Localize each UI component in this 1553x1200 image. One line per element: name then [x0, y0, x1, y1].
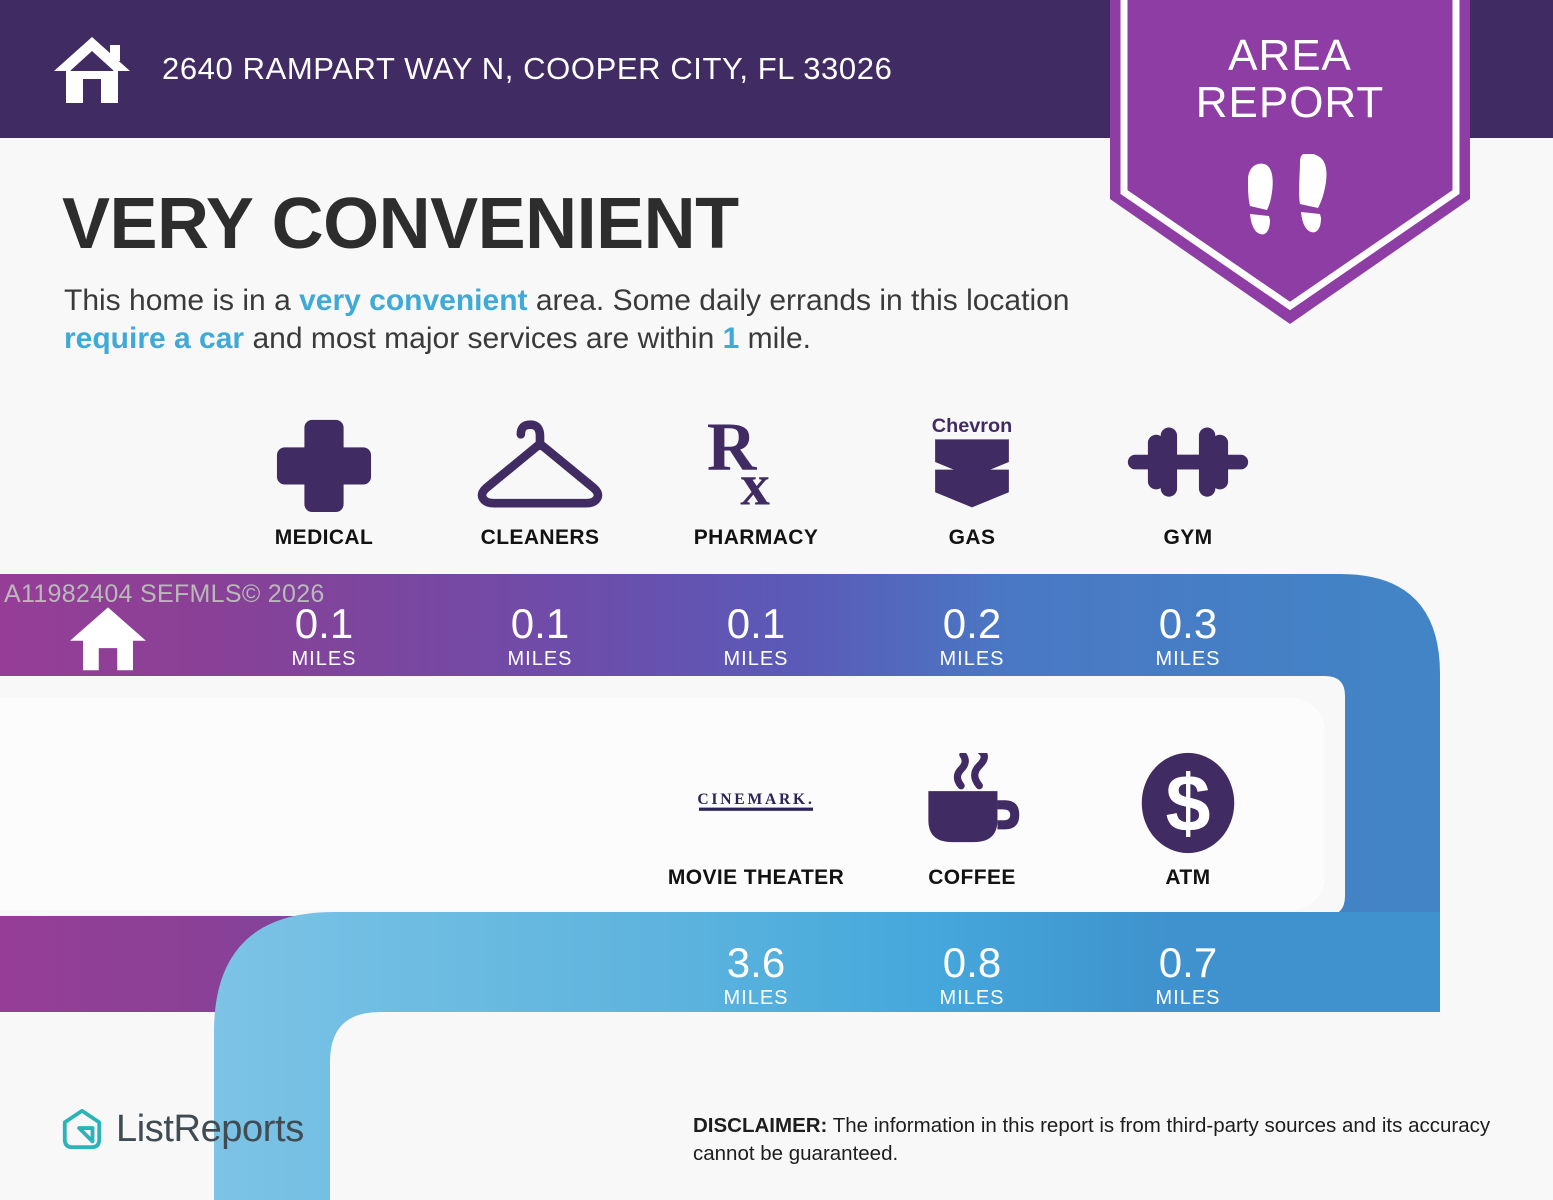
clothes-hanger-icon [473, 408, 607, 518]
distance-value: 0.8 [943, 942, 1001, 984]
summary-part-2: area. Some daily errands in this locatio… [528, 284, 1070, 317]
svg-text:$: $ [1165, 759, 1210, 849]
cinemark-logo-icon: CINEMARK. [681, 748, 831, 858]
disclaimer-label: DISCLAIMER: [693, 1114, 827, 1137]
page-title: VERY CONVENIENT [62, 186, 739, 262]
category-label: GYM [1163, 526, 1212, 550]
distance-coffee: 0.8 MILES [864, 917, 1080, 1035]
distance-value: 0.3 [1159, 603, 1217, 645]
badge-line-2: REPORT [1110, 79, 1470, 126]
category-label: MEDICAL [275, 526, 373, 550]
mls-watermark: A11982404 SEFMLS© 2026 [4, 580, 325, 609]
category-label: COFFEE [928, 866, 1016, 890]
category-label: CLEANERS [481, 526, 600, 550]
distance-cleaners: 0.1 MILES [432, 578, 648, 696]
distance-value: 0.7 [1159, 942, 1217, 984]
distance-unit: MILES [1155, 987, 1220, 1010]
distance-value: 0.1 [727, 603, 785, 645]
rx-prescription-icon: R x [705, 408, 807, 518]
summary-highlight-2: require a car [64, 322, 244, 355]
svg-text:x: x [740, 452, 770, 514]
distance-value: 0.1 [295, 603, 353, 645]
summary-highlight-3: 1 [723, 322, 740, 355]
house-icon [66, 600, 150, 674]
distance-value: 3.6 [727, 942, 785, 984]
category-cleaners: CLEANERS [432, 408, 648, 550]
row1-icons: MEDICAL CLEANERS R x PHARMACY [0, 408, 1553, 550]
distance-gym: 0.3 MILES [1080, 578, 1296, 696]
row2-icons: CINEMARK. MOVIE THEATER COFFEE [0, 748, 1553, 890]
row2-bar-spacer [0, 917, 648, 1035]
distance-unit: MILES [507, 648, 572, 671]
category-label: PHARMACY [694, 526, 819, 550]
distance-movie-theater: 3.6 MILES [648, 917, 864, 1035]
distance-unit: MILES [723, 987, 788, 1010]
category-coffee: COFFEE [864, 748, 1080, 890]
distance-unit: MILES [1155, 648, 1220, 671]
chevron-wordmark: Chevron [932, 415, 1013, 437]
chevron-gas-logo-icon: Chevron [920, 408, 1024, 518]
dollar-sign-icon: $ [1138, 748, 1238, 858]
distance-gas: 0.2 MILES [864, 578, 1080, 696]
house-icon [52, 33, 132, 105]
category-label: GAS [949, 526, 996, 550]
footprints-icon [1240, 154, 1350, 244]
category-gas: Chevron GAS [864, 408, 1080, 550]
area-report-badge: AREA REPORT [1110, 0, 1470, 324]
summary-part-1: This home is in a [64, 284, 299, 317]
category-medical: MEDICAL [216, 408, 432, 550]
badge-title: AREA REPORT [1110, 32, 1470, 126]
category-atm: $ ATM [1080, 748, 1296, 890]
coffee-cup-icon [917, 748, 1027, 858]
summary-part-3: and most major services are within [244, 322, 723, 355]
category-label: ATM [1165, 866, 1210, 890]
distance-unit: MILES [291, 648, 356, 671]
listreports-wordmark: ListReports [116, 1108, 304, 1151]
distance-unit: MILES [939, 987, 1004, 1010]
disclaimer: DISCLAIMER: The information in this repo… [693, 1112, 1503, 1168]
distance-atm: 0.7 MILES [1080, 917, 1296, 1035]
svg-text:CINEMARK.: CINEMARK. [697, 791, 814, 808]
summary-text: This home is in a very convenient area. … [64, 282, 1104, 358]
category-label: MOVIE THEATER [668, 866, 844, 890]
row2-distance-bar: 3.6 MILES 0.8 MILES 0.7 MILES [0, 917, 1553, 1035]
dumbbell-icon [1124, 408, 1252, 518]
category-gym: GYM [1080, 408, 1296, 550]
listreports-house-tag-icon [60, 1107, 104, 1151]
distance-value: 0.1 [511, 603, 569, 645]
area-report-page: 2640 RAMPART WAY N, COOPER CITY, FL 3302… [0, 0, 1553, 1200]
listreports-logo: ListReports [60, 1107, 304, 1151]
distance-unit: MILES [939, 648, 1004, 671]
row1-spacer [0, 408, 216, 550]
summary-part-4: mile. [739, 322, 811, 355]
distance-pharmacy: 0.1 MILES [648, 578, 864, 696]
category-movie-theater: CINEMARK. MOVIE THEATER [648, 748, 864, 890]
distance-unit: MILES [723, 648, 788, 671]
badge-line-1: AREA [1110, 32, 1470, 79]
property-address: 2640 RAMPART WAY N, COOPER CITY, FL 3302… [162, 51, 892, 87]
distance-value: 0.2 [943, 603, 1001, 645]
summary-highlight-1: very convenient [299, 284, 527, 317]
row2-spacer [0, 748, 648, 890]
category-pharmacy: R x PHARMACY [648, 408, 864, 550]
medical-cross-icon [275, 408, 373, 518]
